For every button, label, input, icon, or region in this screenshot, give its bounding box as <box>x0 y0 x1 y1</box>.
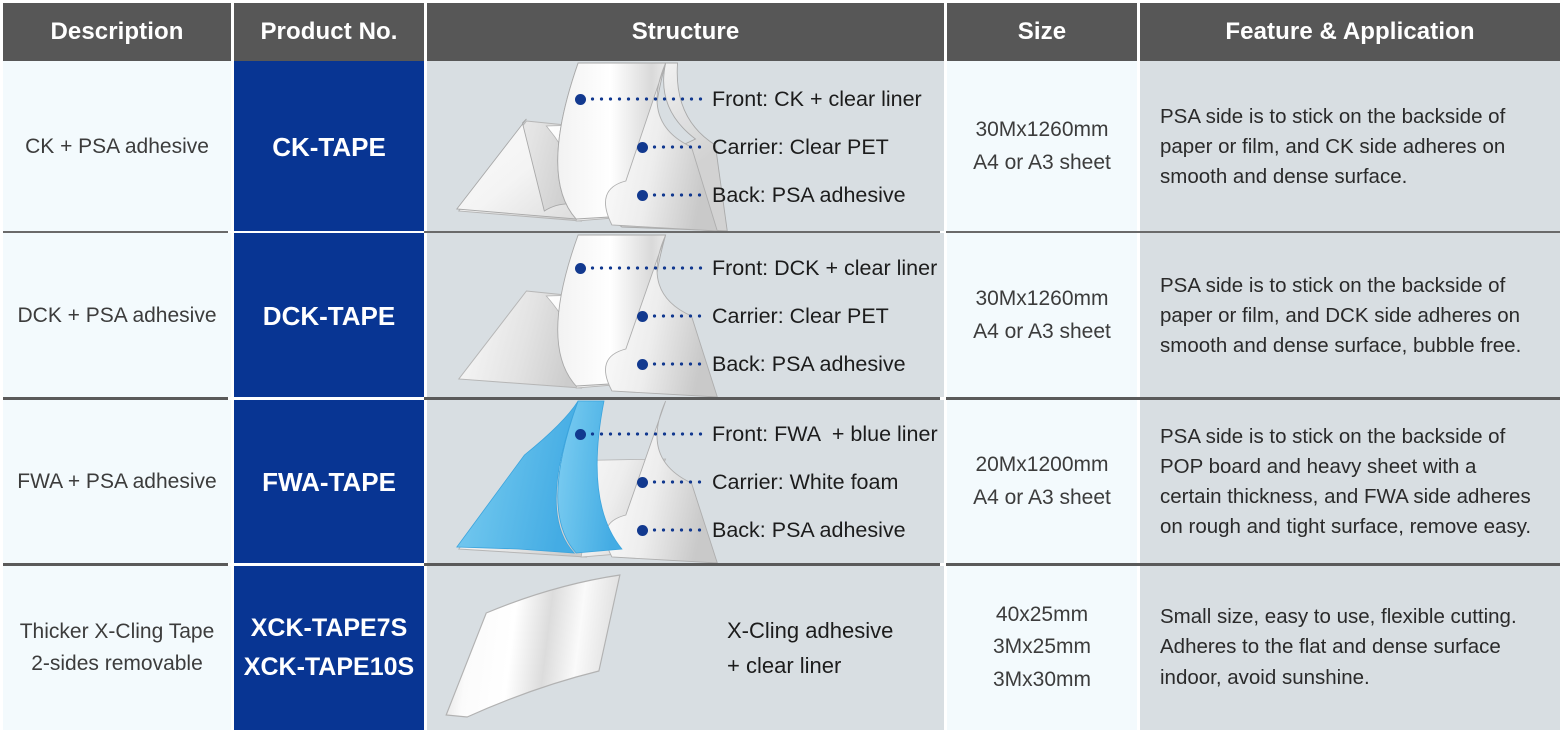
callout-leader-line <box>650 480 706 484</box>
callout-dot-icon <box>575 94 586 105</box>
callout-front: Front: CK + clear liner <box>575 75 944 123</box>
description-line: Thicker X-Cling Tape <box>20 616 215 648</box>
callout-label: Front: FWA + blue liner <box>712 422 938 447</box>
cell-structure: X-Cling adhesive + clear liner <box>427 565 944 730</box>
cell-description: CK + PSA adhesive <box>3 61 231 233</box>
callout-front: Front: DCK + clear liner <box>575 244 944 292</box>
structure-illustration: Front: CK + clear liner Carrier: Clear P… <box>427 61 944 233</box>
description-line: 2-sides removable <box>20 648 215 680</box>
size-line: 30Mx1260mm <box>973 114 1111 147</box>
callout-label: Back: PSA adhesive <box>712 518 906 543</box>
table-header-row: Description Product No. Structure Size F… <box>0 0 1563 61</box>
table-body: CK + PSA adhesive CK-TAPE <box>0 61 1563 730</box>
cell-size: 30Mx1260mm A4 or A3 sheet <box>947 233 1137 399</box>
callout-carrier: Carrier: Clear PET <box>637 292 944 340</box>
callout-carrier: Carrier: White foam <box>637 458 944 506</box>
callout-back: Back: PSA adhesive <box>637 340 944 388</box>
cell-product-no: FWA-TAPE <box>234 399 424 565</box>
size-line: 30Mx1260mm <box>973 283 1111 316</box>
structure-illustration: Front: FWA + blue liner Carrier: White f… <box>427 399 944 565</box>
structure-illustration: Front: DCK + clear liner Carrier: Clear … <box>427 233 944 399</box>
product-comparison-table: Description Product No. Structure Size F… <box>0 0 1563 730</box>
cell-structure: Front: DCK + clear liner Carrier: Clear … <box>427 233 944 399</box>
row-divider <box>3 231 1560 233</box>
column-header-feature-application: Feature & Application <box>1140 3 1560 61</box>
row-divider <box>3 397 1560 400</box>
structure-callouts: Front: DCK + clear liner Carrier: Clear … <box>575 233 944 399</box>
callout-leader-line <box>588 97 706 101</box>
callout-label: Carrier: Clear PET <box>712 135 889 160</box>
callout-leader-line <box>588 432 706 436</box>
size-line: 40x25mm <box>993 599 1091 632</box>
structure-callouts: Front: FWA + blue liner Carrier: White f… <box>575 399 944 565</box>
callout-front: Front: FWA + blue liner <box>575 410 944 458</box>
callout-label: Front: CK + clear liner <box>712 87 922 112</box>
size-line: A4 or A3 sheet <box>973 482 1111 515</box>
cell-description: Thicker X-Cling Tape 2-sides removable <box>3 565 231 730</box>
cell-description: FWA + PSA adhesive <box>3 399 231 565</box>
table-row: CK + PSA adhesive CK-TAPE <box>0 61 1563 233</box>
table-row: DCK + PSA adhesive DCK-TAPE <box>0 233 1563 399</box>
size-line: 20Mx1200mm <box>973 449 1111 482</box>
size-line: A4 or A3 sheet <box>973 316 1111 349</box>
cell-size: 40x25mm 3Mx25mm 3Mx30mm <box>947 565 1137 730</box>
callout-dot-icon <box>637 190 648 201</box>
product-no-line: XCK-TAPE10S <box>244 648 414 687</box>
callout-leader-line <box>650 193 706 197</box>
callout-label: Front: DCK + clear liner <box>712 256 937 281</box>
size-line: 3Mx30mm <box>993 664 1091 697</box>
callout-dot-icon <box>637 477 648 488</box>
callout-label: Carrier: Clear PET <box>712 304 889 329</box>
callout-label: Back: PSA adhesive <box>712 352 906 377</box>
cell-product-no: XCK-TAPE7S XCK-TAPE10S <box>234 565 424 730</box>
cell-product-no: DCK-TAPE <box>234 233 424 399</box>
plain-label-line: + clear liner <box>727 648 893 683</box>
table-row: Thicker X-Cling Tape 2-sides removable X… <box>0 565 1563 730</box>
cell-description: DCK + PSA adhesive <box>3 233 231 399</box>
callout-leader-line <box>650 362 706 366</box>
callout-dot-icon <box>637 311 648 322</box>
structure-illustration: X-Cling adhesive + clear liner <box>427 565 944 730</box>
table-row: FWA + PSA adhesive FWA-TAPE <box>0 399 1563 565</box>
callout-back: Back: PSA adhesive <box>637 506 944 554</box>
column-header-structure: Structure <box>427 3 944 61</box>
callout-label: Carrier: White foam <box>712 470 898 495</box>
cell-structure: Front: CK + clear liner Carrier: Clear P… <box>427 61 944 233</box>
cell-size: 30Mx1260mm A4 or A3 sheet <box>947 61 1137 233</box>
column-header-description: Description <box>3 3 231 61</box>
callout-dot-icon <box>575 263 586 274</box>
row-divider <box>3 563 1560 566</box>
plain-label-line: X-Cling adhesive <box>727 612 893 647</box>
callout-back: Back: PSA adhesive <box>637 171 944 219</box>
callout-leader-line <box>650 528 706 532</box>
callout-leader-line <box>650 145 706 149</box>
cell-size: 20Mx1200mm A4 or A3 sheet <box>947 399 1137 565</box>
column-header-size: Size <box>947 3 1137 61</box>
column-header-product-no: Product No. <box>234 3 424 61</box>
callout-dot-icon <box>637 142 648 153</box>
cell-feature: PSA side is to stick on the backside of … <box>1140 399 1560 565</box>
structure-callouts: Front: CK + clear liner Carrier: Clear P… <box>575 61 944 233</box>
callout-carrier: Carrier: Clear PET <box>637 123 944 171</box>
callout-label: Back: PSA adhesive <box>712 183 906 208</box>
structure-plain-label: X-Cling adhesive + clear liner <box>727 612 893 682</box>
callout-dot-icon <box>637 525 648 536</box>
cell-feature: PSA side is to stick on the backside of … <box>1140 233 1560 399</box>
cell-structure: Front: FWA + blue liner Carrier: White f… <box>427 399 944 565</box>
cell-feature: PSA side is to stick on the backside of … <box>1140 61 1560 233</box>
callout-leader-line <box>588 266 706 270</box>
callout-dot-icon <box>575 429 586 440</box>
product-no-line: XCK-TAPE7S <box>251 609 408 648</box>
callout-leader-line <box>650 314 706 318</box>
size-line: A4 or A3 sheet <box>973 147 1111 180</box>
cell-product-no: CK-TAPE <box>234 61 424 233</box>
size-line: 3Mx25mm <box>993 631 1091 664</box>
cell-feature: Small size, easy to use, flexible cuttin… <box>1140 565 1560 730</box>
callout-dot-icon <box>637 359 648 370</box>
